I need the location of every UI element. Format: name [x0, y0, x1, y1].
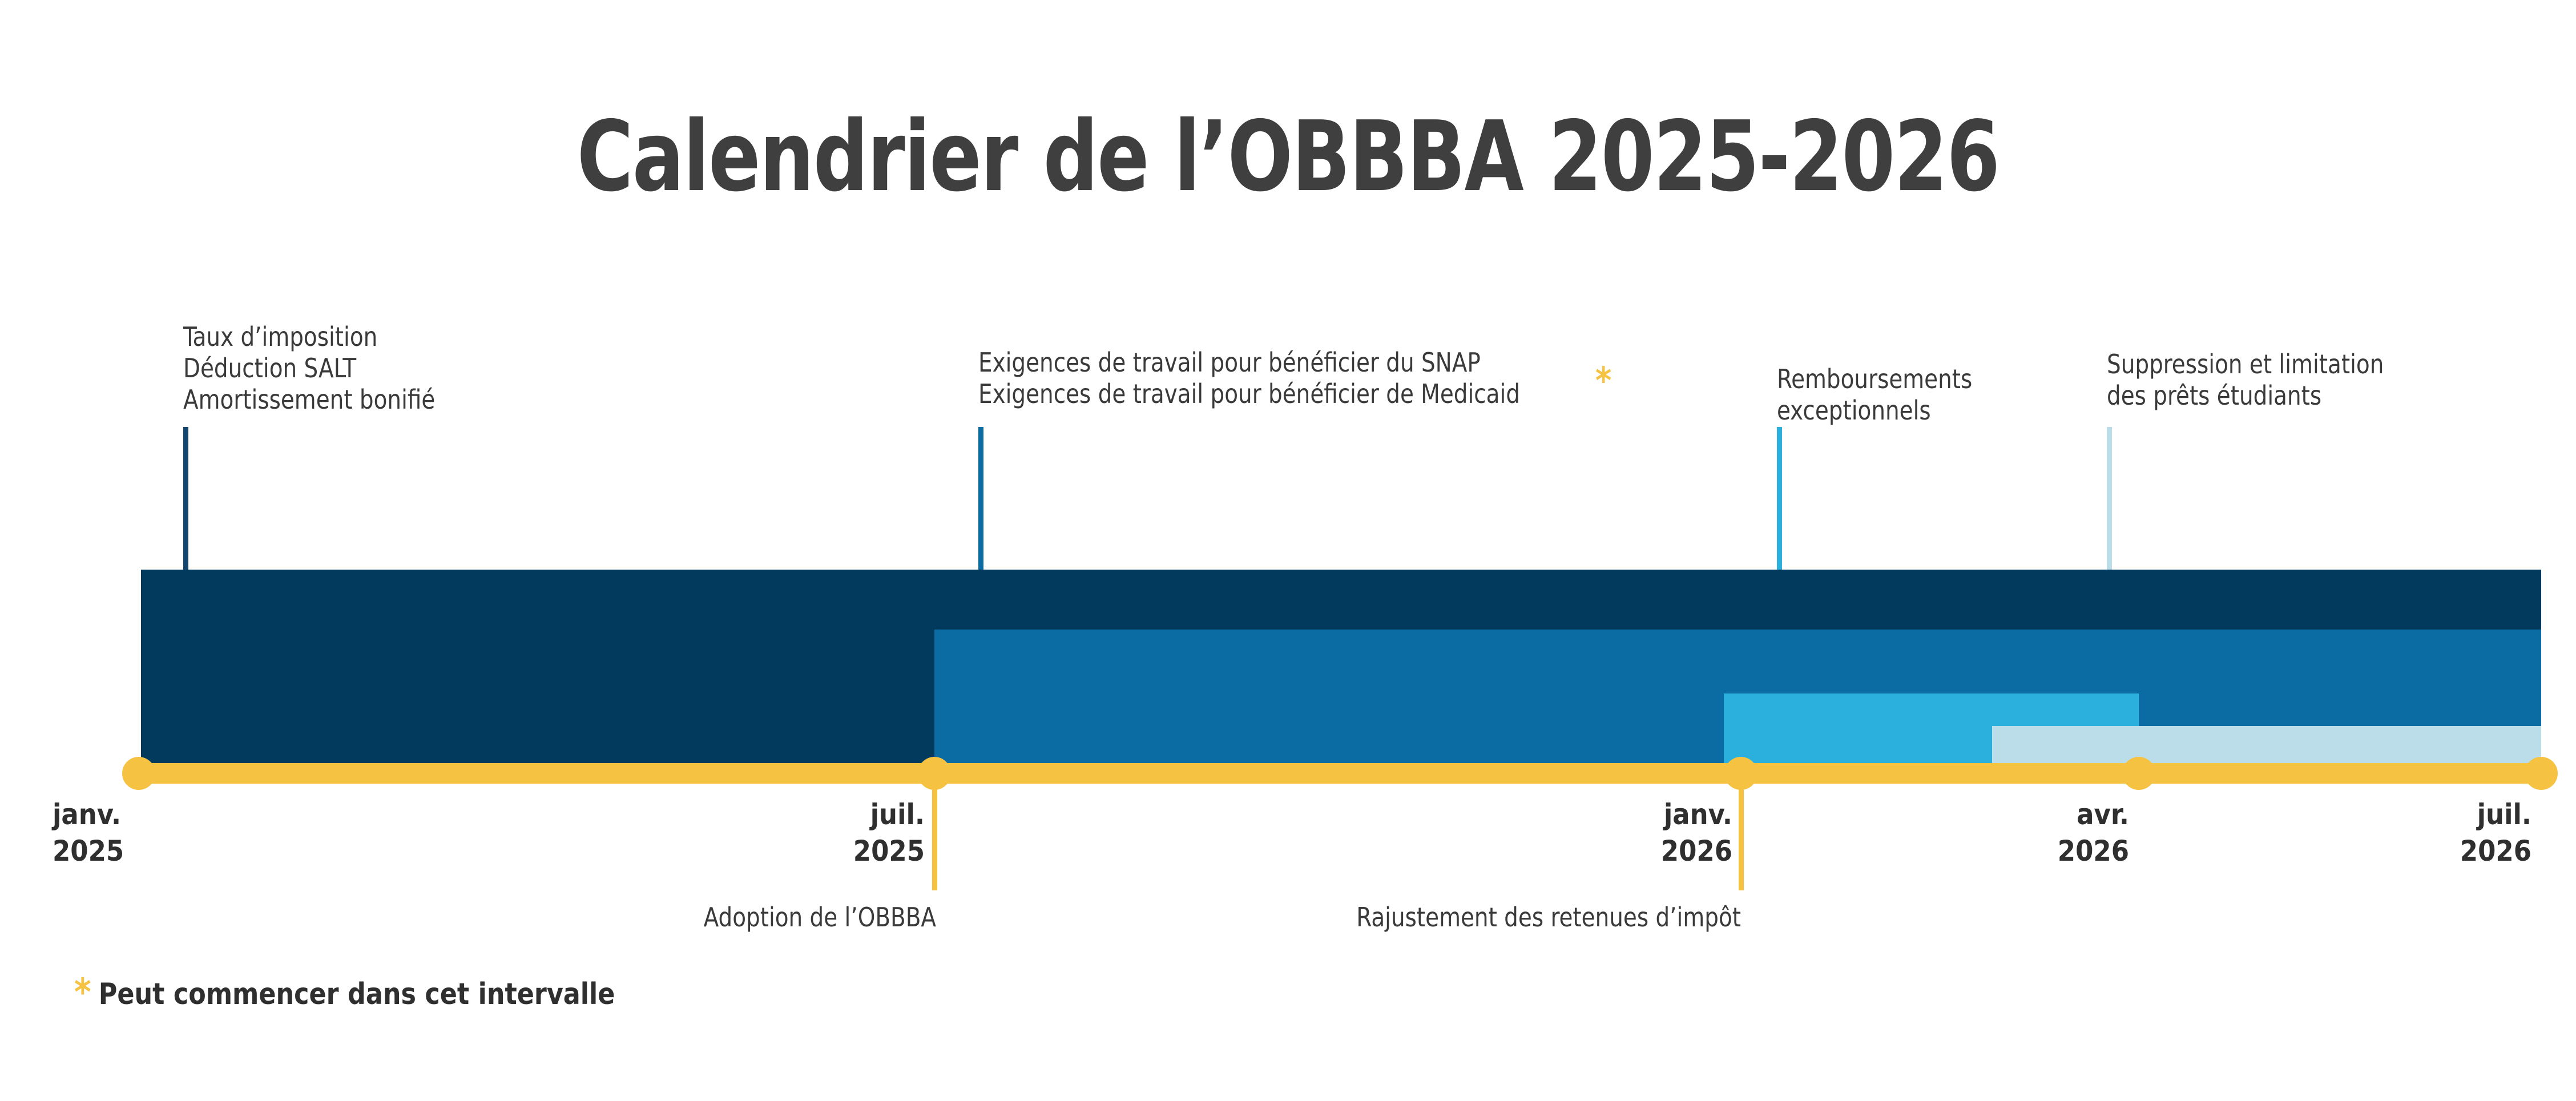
annotation-refunds: Remboursements exceptionnels	[1777, 364, 1972, 426]
annotation-line: exceptionnels	[1777, 395, 1972, 426]
annotation-tax-rates: Taux d’imposition Déduction SALT Amortis…	[183, 321, 435, 416]
axis-dot-jan-2025	[122, 757, 155, 790]
axis-label-jan-2026: janv. 2026	[1561, 796, 1732, 869]
tick-month: juil.	[753, 796, 925, 833]
tick-year: 2025	[53, 833, 124, 869]
axis-dot-jan-2026	[1724, 757, 1757, 790]
page-title: Calendrier de l’OBBBA 2025-2026	[155, 108, 2421, 205]
tick-year: 2026	[1561, 833, 1732, 869]
axis-dot-jul-2025	[918, 757, 951, 790]
dropline-withholding	[1739, 773, 1744, 890]
tick-year: 2026	[1958, 833, 2129, 869]
annotation-line: Amortissement bonifié	[183, 384, 435, 416]
annotation-line: Remboursements	[1777, 364, 1972, 395]
axis-dot-apr-2026	[2122, 757, 2155, 790]
milestone-label-obbba-adoption: Adoption de l’OBBBA	[646, 902, 936, 933]
milestone-label-withholding: Rajustement des retenues d’impôt	[1285, 902, 1741, 933]
axis-dot-jul-2026	[2525, 757, 2558, 790]
timeline-axis	[139, 763, 2543, 784]
axis-label-apr-2026: avr. 2026	[1958, 796, 2129, 869]
timeline-infographic: Calendrier de l’OBBBA 2025-2026 Taux d’i…	[0, 0, 2576, 1101]
annotation-line: Exigences de travail pour bénéficier du …	[978, 347, 1520, 378]
tick-year: 2025	[753, 833, 925, 869]
tick-year: 2026	[2360, 833, 2531, 869]
axis-label-jan-2025: janv. 2025	[53, 796, 124, 869]
annotation-line: Déduction SALT	[183, 353, 435, 384]
footnote-text: Peut commencer dans cet intervalle	[99, 977, 615, 1011]
tick-month: janv.	[1561, 796, 1732, 833]
axis-label-jul-2025: juil. 2025	[753, 796, 925, 869]
tick-month: avr.	[1958, 796, 2129, 833]
annotation-line: Suppression et limitation	[2107, 349, 2384, 380]
annotation-line: Exigences de travail pour bénéficier de …	[978, 378, 1520, 410]
annotation-line: Taux d’imposition	[183, 321, 435, 353]
tick-month: janv.	[53, 796, 124, 833]
annotation-work-requirements: Exigences de travail pour bénéficier du …	[978, 347, 1520, 410]
footnote: * Peut commencer dans cet intervalle	[74, 977, 615, 1011]
annotation-line: des prêts étudiants	[2107, 380, 2384, 412]
asterisk-icon: *	[74, 977, 91, 1008]
leader-line-tax-rates	[183, 427, 188, 570]
tick-month: juil.	[2360, 796, 2531, 833]
asterisk-marker-icon: *	[1595, 363, 1611, 400]
dropline-obbba-adoption	[932, 773, 937, 890]
axis-label-jul-2026: juil. 2026	[2360, 796, 2531, 869]
annotation-student-loans: Suppression et limitation des prêts étud…	[2107, 349, 2384, 412]
